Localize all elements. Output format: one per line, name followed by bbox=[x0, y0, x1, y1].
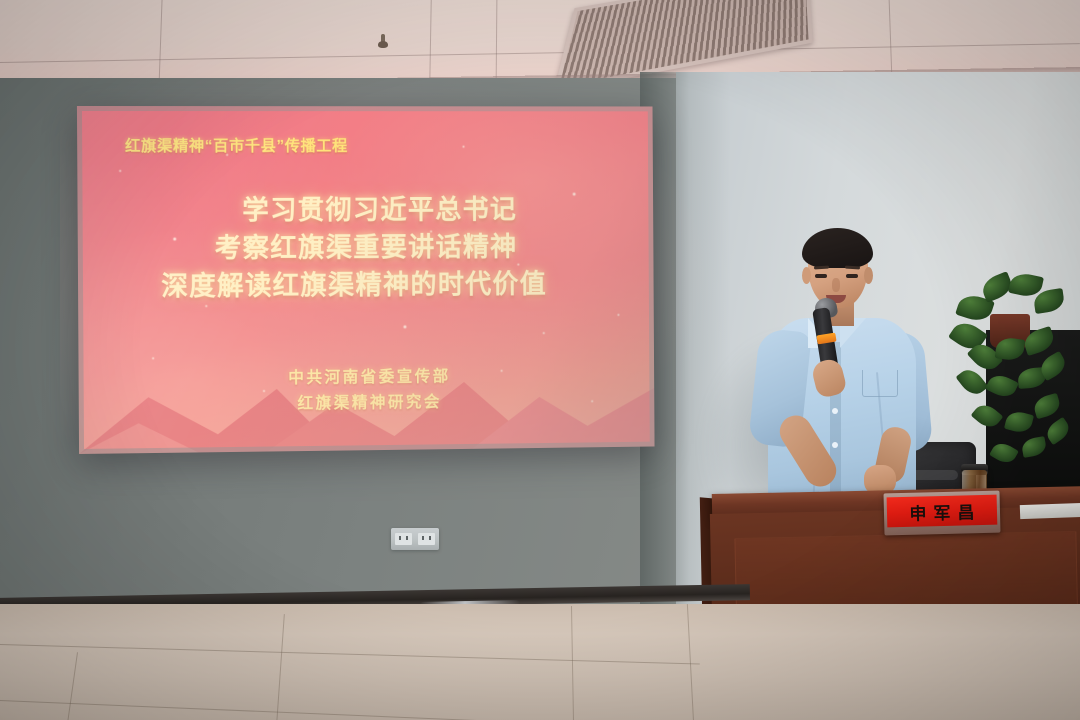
speaker-hair bbox=[802, 228, 873, 268]
wall-socket[interactable] bbox=[391, 528, 439, 550]
floor-tile-seam bbox=[571, 606, 574, 720]
shirt-button bbox=[832, 442, 838, 448]
floor-tile-seam bbox=[276, 614, 285, 720]
floor-tile-seam bbox=[687, 604, 694, 720]
sprinkler-head bbox=[378, 41, 388, 48]
slide-organizations: 中共河南省委宣传部 红旗渠精神研究会 bbox=[79, 362, 655, 420]
speaker-ear-right bbox=[864, 267, 873, 284]
speaker-ear-left bbox=[802, 267, 811, 284]
slide-title-line-2: 考察红旗渠重要讲话精神 bbox=[77, 228, 652, 268]
floor-tile-seam bbox=[0, 700, 779, 720]
speaker-eye-right bbox=[846, 274, 858, 278]
ceiling-tile-seam bbox=[889, 0, 893, 78]
slide-title-line-3: 深度解读红旗渠精神的时代价值 bbox=[77, 265, 640, 306]
slide-title-line-1: 学习贯彻习近平总书记 bbox=[89, 190, 654, 229]
socket-outlet-right bbox=[418, 533, 435, 545]
ceiling-tile-seam bbox=[496, 0, 498, 86]
presentation-slide: 红旗渠精神“百市千县”传播工程 学习贯彻习近平总书记 考察红旗渠重要讲话精神 深… bbox=[77, 106, 655, 454]
speaker-eye-left bbox=[815, 274, 827, 278]
slide-header-text: 红旗渠精神“百市千县”传播工程 bbox=[125, 134, 348, 156]
projection-screen[interactable]: 红旗渠精神“百市千县”传播工程 学习贯彻习近平总书记 考察红旗渠重要讲话精神 深… bbox=[77, 106, 655, 454]
ceiling-tile-seam bbox=[0, 43, 1080, 63]
ceiling-tile-seam bbox=[158, 0, 162, 88]
ceiling-tile-seam bbox=[429, 0, 431, 84]
slide-title: 学习贯彻习近平总书记 考察红旗渠重要讲话精神 深度解读红旗渠精神的时代价值 bbox=[77, 191, 653, 306]
paper-document[interactable] bbox=[1020, 503, 1080, 519]
shirt-pocket bbox=[862, 370, 898, 397]
shirt-button bbox=[832, 408, 838, 414]
fire-sprinkler-icon bbox=[378, 34, 388, 50]
nameplate[interactable]: 申军昌 bbox=[884, 491, 1001, 536]
nameplate-card: 申军昌 bbox=[887, 495, 998, 528]
nameplate-text: 申军昌 bbox=[902, 498, 982, 525]
conference-room-photo: 红旗渠精神“百市千县”传播工程 学习贯彻习近平总书记 考察红旗渠重要讲话精神 深… bbox=[0, 0, 1080, 720]
speaker-nose bbox=[832, 278, 840, 292]
socket-outlet-left bbox=[395, 533, 412, 545]
floor-tile-seam bbox=[0, 644, 700, 665]
floor-tile-seam bbox=[67, 652, 78, 720]
floor bbox=[0, 604, 1080, 720]
